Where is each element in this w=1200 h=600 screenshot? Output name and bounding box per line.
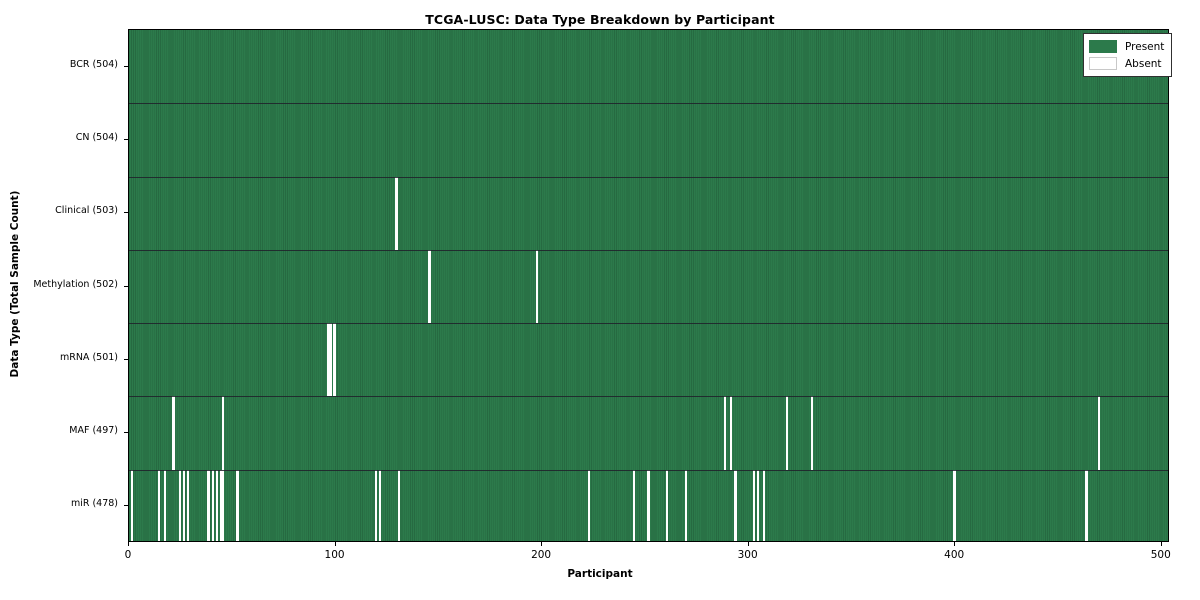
absent-cell[interactable] — [333, 323, 335, 396]
absent-cell[interactable] — [1085, 470, 1087, 542]
row-separator — [129, 470, 1168, 471]
absent-cell[interactable] — [588, 470, 590, 542]
absent-cell[interactable] — [216, 470, 218, 542]
absent-cell[interactable] — [734, 470, 736, 542]
legend-item-present: Present — [1089, 38, 1164, 55]
absent-cell[interactable] — [222, 396, 224, 469]
heatmap-row[interactable] — [129, 177, 1168, 250]
participant-column-stripes — [129, 177, 1168, 250]
absent-cell[interactable] — [428, 250, 430, 323]
absent-cell[interactable] — [633, 470, 635, 542]
absent-cell[interactable] — [811, 396, 813, 469]
legend-label-present: Present — [1125, 41, 1164, 53]
x-axis-tick-mark — [748, 542, 749, 546]
y-axis-tick-label: Methylation (502) — [0, 279, 118, 290]
y-axis-tick-mark — [124, 359, 128, 360]
heatmap-row[interactable] — [129, 323, 1168, 396]
x-axis-tick-mark — [541, 542, 542, 546]
absent-cell[interactable] — [730, 396, 732, 469]
y-axis-tick-mark — [124, 432, 128, 433]
row-separator — [129, 396, 1168, 397]
x-axis-title: Participant — [0, 568, 1200, 580]
absent-swatch — [1089, 57, 1117, 70]
absent-cell[interactable] — [183, 470, 185, 542]
y-axis-tick-mark — [124, 286, 128, 287]
participant-column-stripes — [129, 396, 1168, 469]
absent-cell[interactable] — [786, 396, 788, 469]
absent-cell[interactable] — [379, 470, 381, 542]
absent-cell[interactable] — [685, 470, 687, 542]
absent-cell[interactable] — [236, 470, 238, 542]
absent-cell[interactable] — [222, 470, 224, 542]
absent-cell[interactable] — [724, 396, 726, 469]
x-axis-tick-label: 300 — [723, 549, 773, 561]
x-axis-tick-mark — [954, 542, 955, 546]
y-axis-tick-label: CN (504) — [0, 132, 118, 143]
absent-cell[interactable] — [207, 470, 209, 542]
absent-cell[interactable] — [212, 470, 214, 542]
y-axis-tick-label: BCR (504) — [0, 59, 118, 70]
y-axis-tick-label: miR (478) — [0, 498, 118, 509]
chart-legend[interactable]: Present Absent — [1083, 33, 1172, 77]
participant-column-stripes — [129, 323, 1168, 396]
heatmap-row[interactable] — [129, 396, 1168, 469]
present-swatch — [1089, 40, 1117, 53]
absent-cell[interactable] — [164, 470, 166, 542]
x-axis-tick-label: 500 — [1136, 549, 1186, 561]
absent-cell[interactable] — [398, 470, 400, 542]
x-axis-tick-mark — [1161, 542, 1162, 546]
absent-cell[interactable] — [666, 470, 668, 542]
absent-cell[interactable] — [1098, 396, 1100, 469]
absent-cell[interactable] — [375, 470, 377, 542]
heatmap-row[interactable] — [129, 103, 1168, 176]
absent-cell[interactable] — [757, 470, 759, 542]
participant-column-stripes — [129, 103, 1168, 176]
absent-cell[interactable] — [158, 470, 160, 542]
y-axis-tick-mark — [124, 139, 128, 140]
heatmap-plot-area[interactable] — [128, 29, 1169, 542]
heatmap-row[interactable] — [129, 30, 1168, 103]
y-axis-tick-mark — [124, 505, 128, 506]
y-axis-tick-label: MAF (497) — [0, 425, 118, 436]
y-axis-tick-label: Clinical (503) — [0, 205, 118, 216]
row-separator — [129, 177, 1168, 178]
x-axis-tick-label: 0 — [103, 549, 153, 561]
legend-item-absent: Absent — [1089, 55, 1164, 72]
row-separator — [129, 250, 1168, 251]
x-axis-tick-label: 100 — [310, 549, 360, 561]
y-axis-tick-mark — [124, 212, 128, 213]
figure-canvas: TCGA-LUSC: Data Type Breakdown by Partic… — [0, 0, 1200, 600]
absent-cell[interactable] — [763, 470, 765, 542]
absent-cell[interactable] — [329, 323, 331, 396]
heatmap-row[interactable] — [129, 470, 1168, 542]
chart-title: TCGA-LUSC: Data Type Breakdown by Partic… — [0, 12, 1200, 27]
participant-column-stripes — [129, 30, 1168, 103]
y-axis-tick-mark — [124, 66, 128, 67]
absent-cell[interactable] — [179, 470, 181, 542]
y-axis-tick-label: mRNA (501) — [0, 352, 118, 363]
participant-column-stripes — [129, 250, 1168, 323]
x-axis-tick-mark — [128, 542, 129, 546]
heatmap-row[interactable] — [129, 250, 1168, 323]
absent-cell[interactable] — [647, 470, 649, 542]
absent-cell[interactable] — [753, 470, 755, 542]
row-separator — [129, 103, 1168, 104]
legend-label-absent: Absent — [1125, 58, 1162, 70]
x-axis-tick-mark — [335, 542, 336, 546]
absent-cell[interactable] — [131, 470, 133, 542]
absent-cell[interactable] — [172, 396, 174, 469]
x-axis-tick-label: 400 — [929, 549, 979, 561]
x-axis-tick-label: 200 — [516, 549, 566, 561]
absent-cell[interactable] — [187, 470, 189, 542]
absent-cell[interactable] — [395, 177, 397, 250]
absent-cell[interactable] — [953, 470, 955, 542]
row-separator — [129, 323, 1168, 324]
absent-cell[interactable] — [536, 250, 538, 323]
